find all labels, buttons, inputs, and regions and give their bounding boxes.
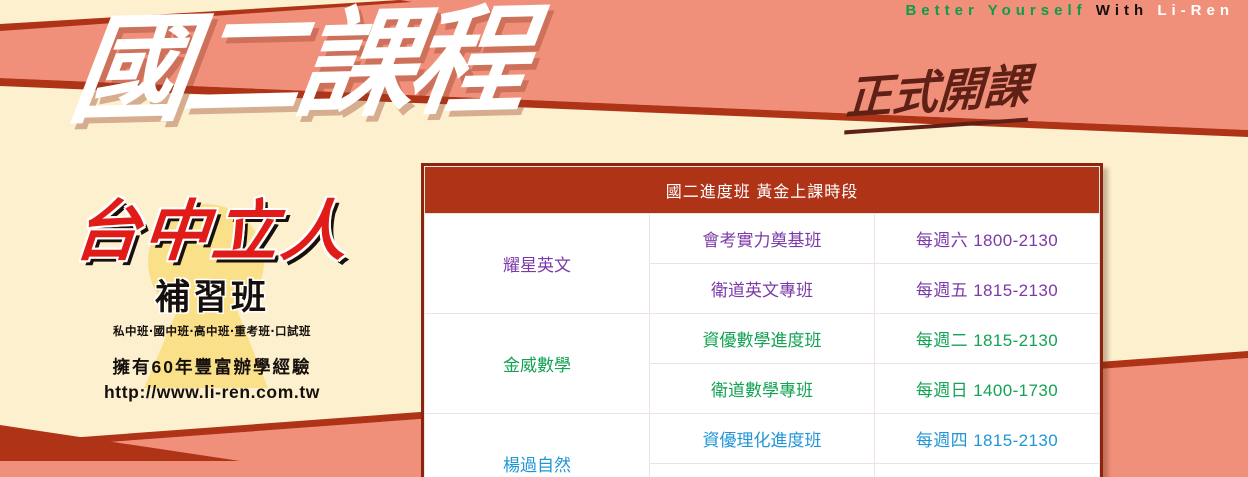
tagline: Better Yourself With Li-Ren (905, 2, 1234, 19)
subtitle-badge: 正式開課 (844, 49, 1031, 134)
class-time-cell: 每週六 1800-2130 (875, 214, 1100, 264)
class-name-cell: 資優理化進度班 (650, 414, 875, 464)
class-time-cell: 每週日 0900-1230 (875, 464, 1100, 477)
tagline-part-with: With (1096, 2, 1148, 19)
promo-banner: Better Yourself With Li-Ren 國二課程 正式開課 台中… (0, 0, 1248, 477)
class-time-cell: 每週二 1815-2130 (875, 314, 1100, 364)
logo-experience-text: 擁有60年豐富辦學經驗 (38, 354, 386, 379)
logo-brand-subtitle: 補習班 (38, 269, 386, 320)
tagline-part-better-yourself: Better Yourself (905, 2, 1086, 19)
logo-brand-name: 台中立人 (35, 198, 389, 267)
schedule-table-header-row: 國二進度班 黃金上課時段 (425, 167, 1100, 214)
subject-cell-math: 金威數學 (425, 314, 650, 414)
class-time-cell: 每週五 1815-2130 (875, 264, 1100, 314)
class-name-cell: 衛道自然專班 (650, 464, 875, 477)
class-name-cell: 衛道英文專班 (650, 264, 875, 314)
page-title: 國二課程 (64, 3, 529, 132)
class-time-cell: 每週四 1815-2130 (875, 414, 1100, 464)
subject-cell-science: 楊過自然 (425, 414, 650, 477)
brand-logo: 台中立人 補習班 私中班‧國中班‧高中班‧重考班‧口試班 擁有60年豐富辦學經驗… (38, 198, 386, 403)
class-time-cell: 每週日 1400-1730 (875, 364, 1100, 414)
class-name-cell: 會考實力奠基班 (650, 214, 875, 264)
class-name-cell: 資優數學進度班 (650, 314, 875, 364)
schedule-table-title: 國二進度班 黃金上課時段 (425, 167, 1100, 214)
logo-course-tracks: 私中班‧國中班‧高中班‧重考班‧口試班 (38, 323, 386, 339)
table-row: 金威數學 資優數學進度班 每週二 1815-2130 (425, 314, 1100, 364)
tagline-part-li-ren: Li-Ren (1157, 2, 1234, 19)
logo-website-url: http://www.li-ren.com.tw (38, 382, 386, 403)
schedule-table: 國二進度班 黃金上課時段 耀星英文 會考實力奠基班 每週六 1800-2130 … (424, 166, 1100, 477)
class-name-cell: 衛道數學專班 (650, 364, 875, 414)
table-row: 耀星英文 會考實力奠基班 每週六 1800-2130 (425, 214, 1100, 264)
schedule-table-container: 國二進度班 黃金上課時段 耀星英文 會考實力奠基班 每週六 1800-2130 … (421, 163, 1103, 477)
table-row: 楊過自然 資優理化進度班 每週四 1815-2130 (425, 414, 1100, 464)
subject-cell-english: 耀星英文 (425, 214, 650, 314)
